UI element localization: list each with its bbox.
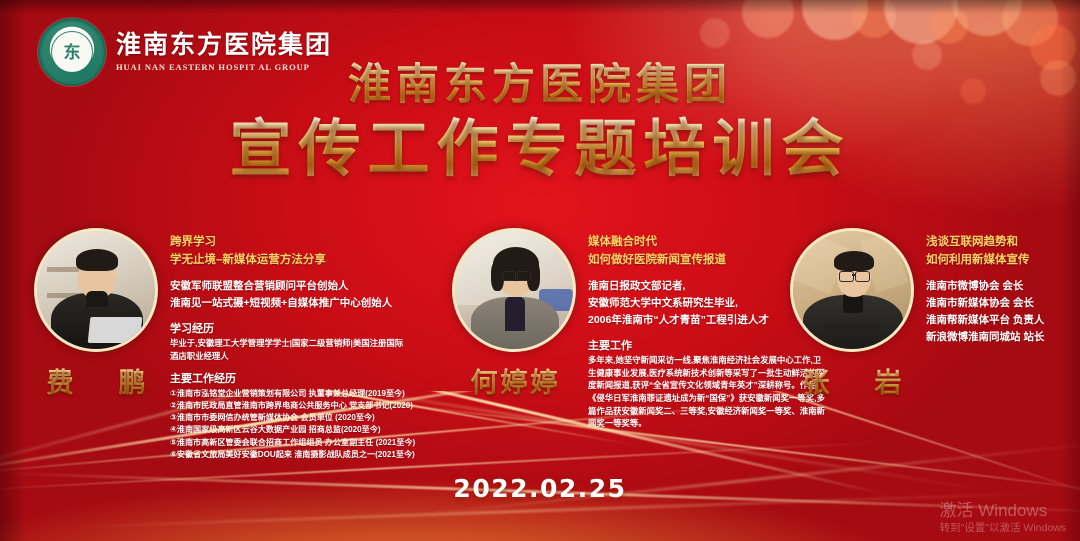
speakers-section: 费 鹏 跨界学习 学无止境–新媒体运营方法分享 安徽军师联盟整合营销顾问平台创始… bbox=[0, 228, 1080, 463]
speaker-topic-line1: 浅谈互联网趋势和 bbox=[926, 234, 1080, 252]
speaker-name-he-tingting: 何婷婷 bbox=[468, 361, 561, 400]
speaker-name-fei-peng: 费 鹏 bbox=[38, 361, 155, 400]
speaker-credential-line-1: 淮南市微博协会 会长 bbox=[926, 278, 1080, 295]
speaker-name-zhang-yan: 张 岩 bbox=[794, 361, 911, 400]
speaker-credential-line-3: 淮南帮新媒体平台 负责人 bbox=[926, 312, 1080, 329]
speaker-experience-item-6: ⑥安徽省文旅局美好安徽DOU起来 淮南摄影战队成员之一(2021至今) bbox=[170, 449, 438, 461]
speaker-photo-zhang-yan bbox=[790, 228, 914, 352]
poster-title-organization: 淮南东方医院集团 bbox=[0, 62, 1080, 108]
speaker-experience-item-4: ④淮南国家级高新区云谷大数据产业园 招商总监(2020至今) bbox=[170, 424, 438, 436]
speaker-credential-line1: 安徽军师联盟整合营销顾问平台创始人 bbox=[170, 278, 438, 295]
speaker-credential-line2: 淮南见一站式摄+短视频+自媒体推广中心创始人 bbox=[170, 295, 438, 312]
speaker-credential-line-2: 淮南市新媒体协会 会长 bbox=[926, 295, 1080, 312]
speaker-portrait-column: 张 岩 bbox=[778, 228, 926, 400]
speaker-card-zhang-yan: 张 岩 浅谈互联网趋势和 如何利用新媒体宣传 淮南市微博协会 会长 淮南市新媒体… bbox=[778, 228, 1080, 400]
speaker-portrait-column: 费 鹏 bbox=[22, 228, 170, 461]
speaker-experience-item-5: ⑤淮南市高新区管委会联合招商工作组组员 办公室副主任 (2021至今) bbox=[170, 437, 438, 449]
speaker-photo-he-tingting bbox=[452, 228, 576, 352]
speaker-education-line-1: 毕业于,安徽理工大学管理学学士|国家二级营销师|美国注册国际 bbox=[170, 337, 438, 349]
speaker-credential-line-4: 新浪微博淮南同城站 站长 bbox=[926, 329, 1080, 346]
brand-name-cn: 淮南东方医院集团 bbox=[116, 32, 332, 58]
speaker-photo-fei-peng bbox=[34, 228, 158, 352]
speaker-experience-heading: 主要工作经历 bbox=[170, 371, 438, 388]
speaker-card-fei-peng: 费 鹏 跨界学习 学无止境–新媒体运营方法分享 安徽军师联盟整合营销顾问平台创始… bbox=[22, 228, 438, 461]
speaker-experience-item-2: ②淮南市民政局直管淮南市跨界电商公共服务中心 党支部书记(2020) bbox=[170, 400, 438, 412]
speaker-topic-line2: 学无止境–新媒体运营方法分享 bbox=[170, 252, 438, 270]
event-date: 2022.02.25 bbox=[0, 474, 1080, 503]
speaker-portrait-column: 何婷婷 bbox=[440, 228, 588, 430]
windows-activation-watermark: 激活 Windows 转到"设置"以激活 Windows bbox=[940, 501, 1066, 535]
speaker-topic-line1: 跨界学习 bbox=[170, 234, 438, 252]
speaker-education-line-2: 酒店职业经理人 bbox=[170, 350, 438, 362]
poster-canvas: 东 淮南东方医院集团 HUAI NAN EASTERN HOSPIT AL GR… bbox=[0, 0, 1080, 541]
speaker-info-fei-peng: 跨界学习 学无止境–新媒体运营方法分享 安徽军师联盟整合营销顾问平台创始人 淮南… bbox=[170, 228, 438, 461]
speaker-topic-line2: 如何利用新媒体宣传 bbox=[926, 252, 1080, 270]
watermark-line-2: 转到"设置"以激活 Windows bbox=[940, 522, 1066, 535]
speaker-card-he-tingting: 何婷婷 媒体融合时代 如何做好医院新闻宣传报道 淮南日报政文部记者, 安徽师范大… bbox=[440, 228, 828, 430]
speaker-education-heading: 学习经历 bbox=[170, 321, 438, 338]
watermark-line-1: 激活 Windows bbox=[940, 501, 1066, 521]
speaker-experience-item-3: ③淮南市市委网信办统管新媒体协会 会员单位 (2020至今) bbox=[170, 412, 438, 424]
speaker-info-zhang-yan: 浅谈互联网趋势和 如何利用新媒体宣传 淮南市微博协会 会长 淮南市新媒体协会 会… bbox=[926, 228, 1080, 400]
poster-title-event: 宣传工作专题培训会 bbox=[0, 116, 1080, 181]
speaker-experience-item-1: ①淮南市泓铭堂企业营销策划有限公司 执董事兼总经理(2019至今) bbox=[170, 388, 438, 400]
